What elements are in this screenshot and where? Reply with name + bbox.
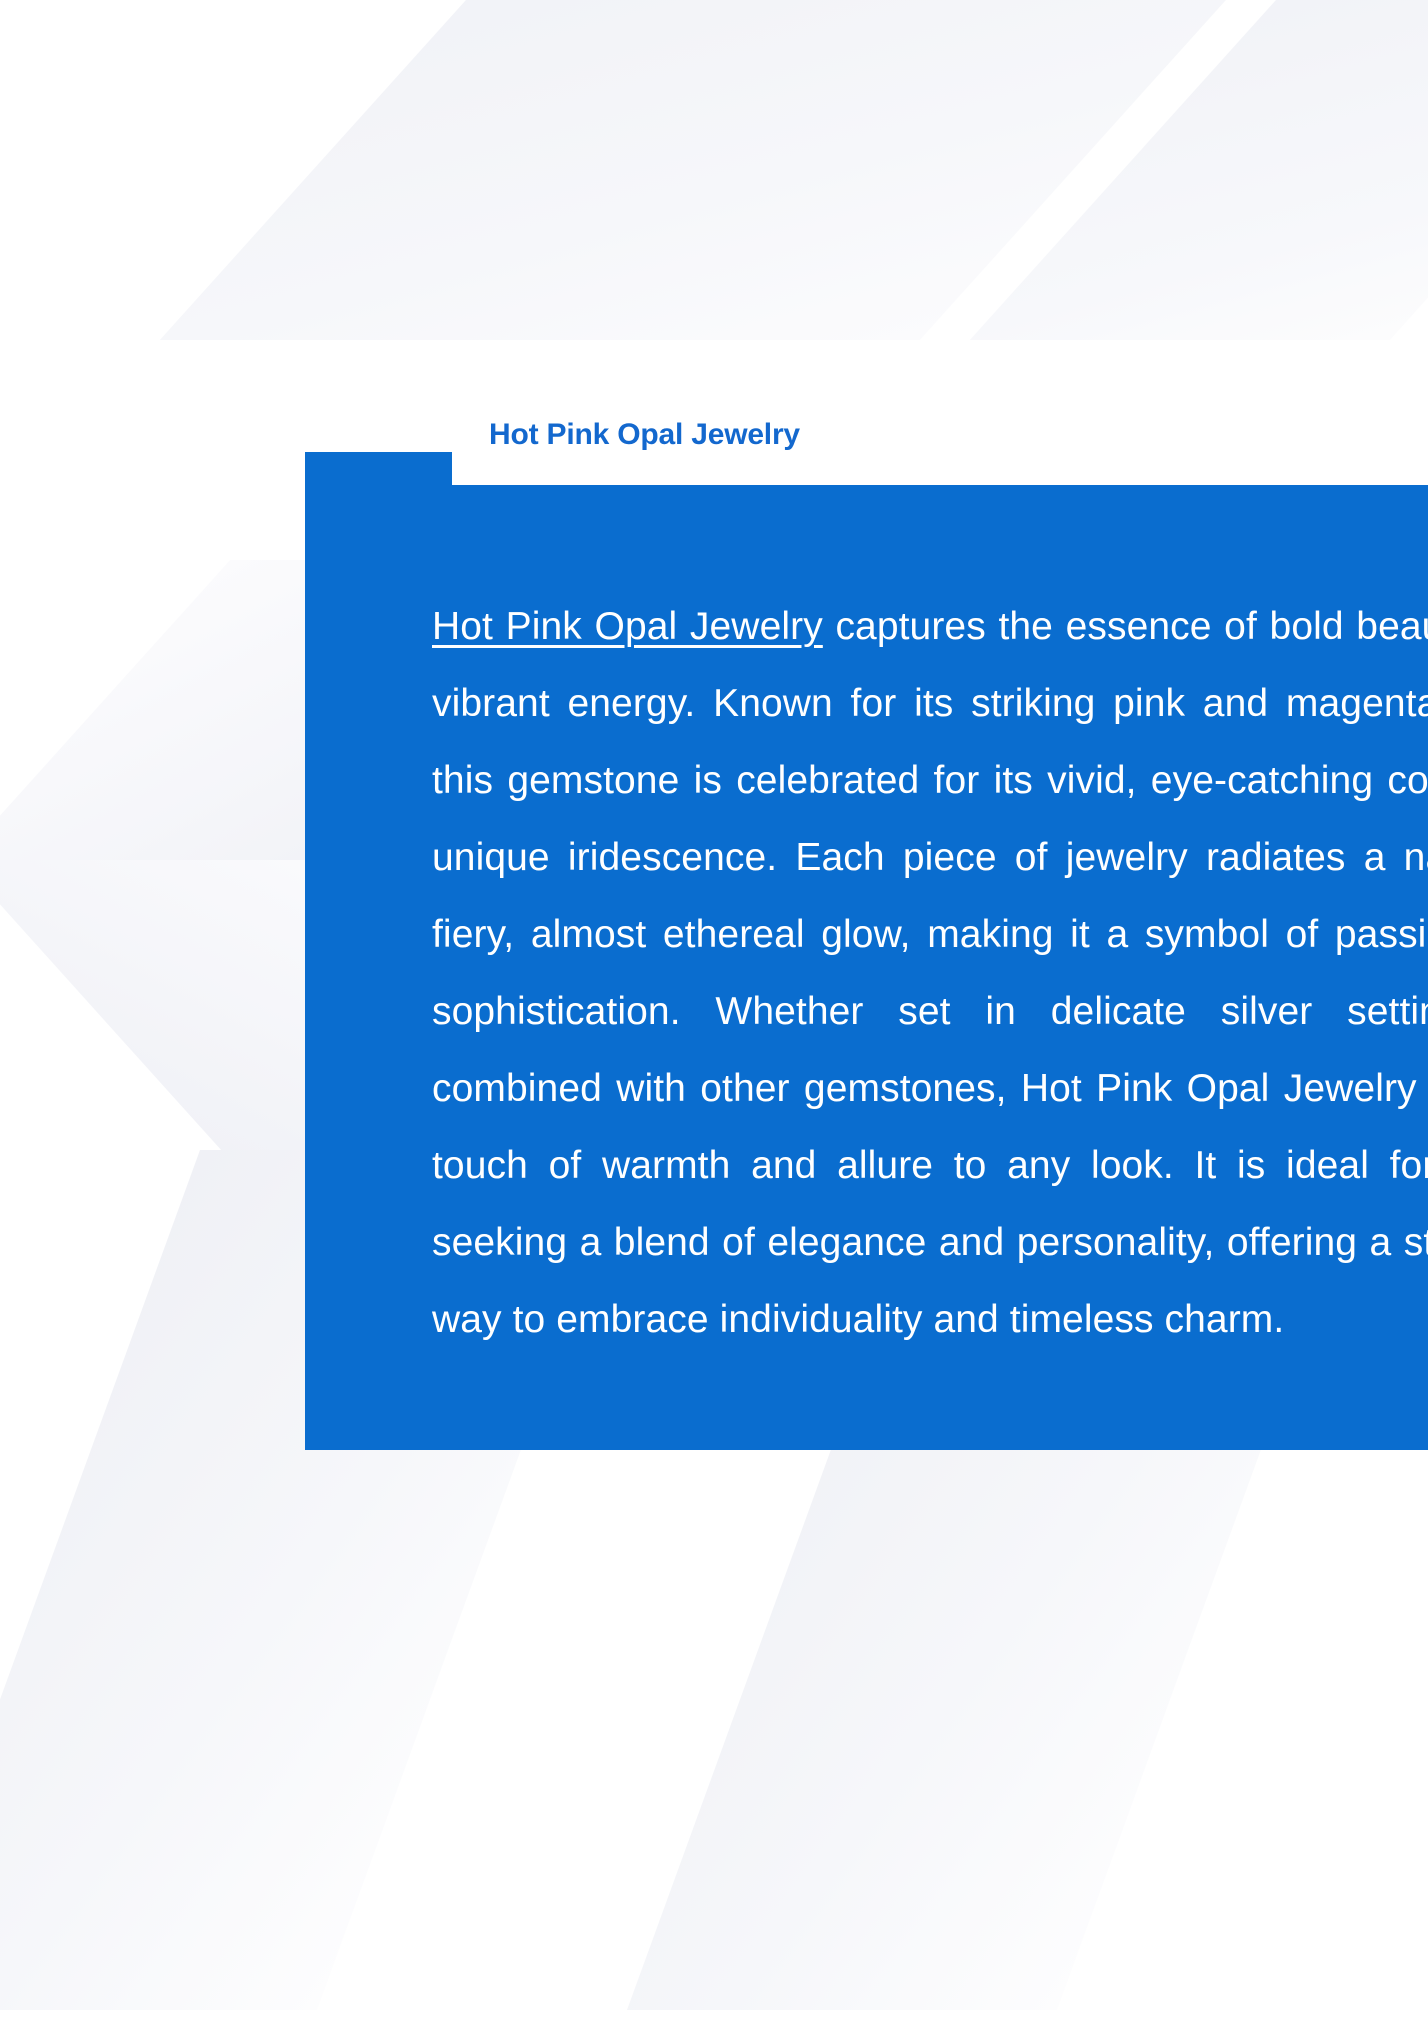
content-card-paragraph: Hot Pink Opal Jewelry captures the essen… bbox=[432, 588, 1428, 1358]
page-title: Hot Pink Opal Jewelry bbox=[489, 418, 800, 452]
content-card-body-text: captures the essence of bold beauty and … bbox=[432, 605, 1428, 1341]
content-card-step-notch bbox=[452, 452, 1428, 485]
background-shape-top-band bbox=[160, 0, 1280, 340]
hot-pink-opal-jewelry-link[interactable]: Hot Pink Opal Jewelry bbox=[432, 605, 823, 648]
background-shape-top-band-secondary bbox=[970, 0, 1428, 340]
